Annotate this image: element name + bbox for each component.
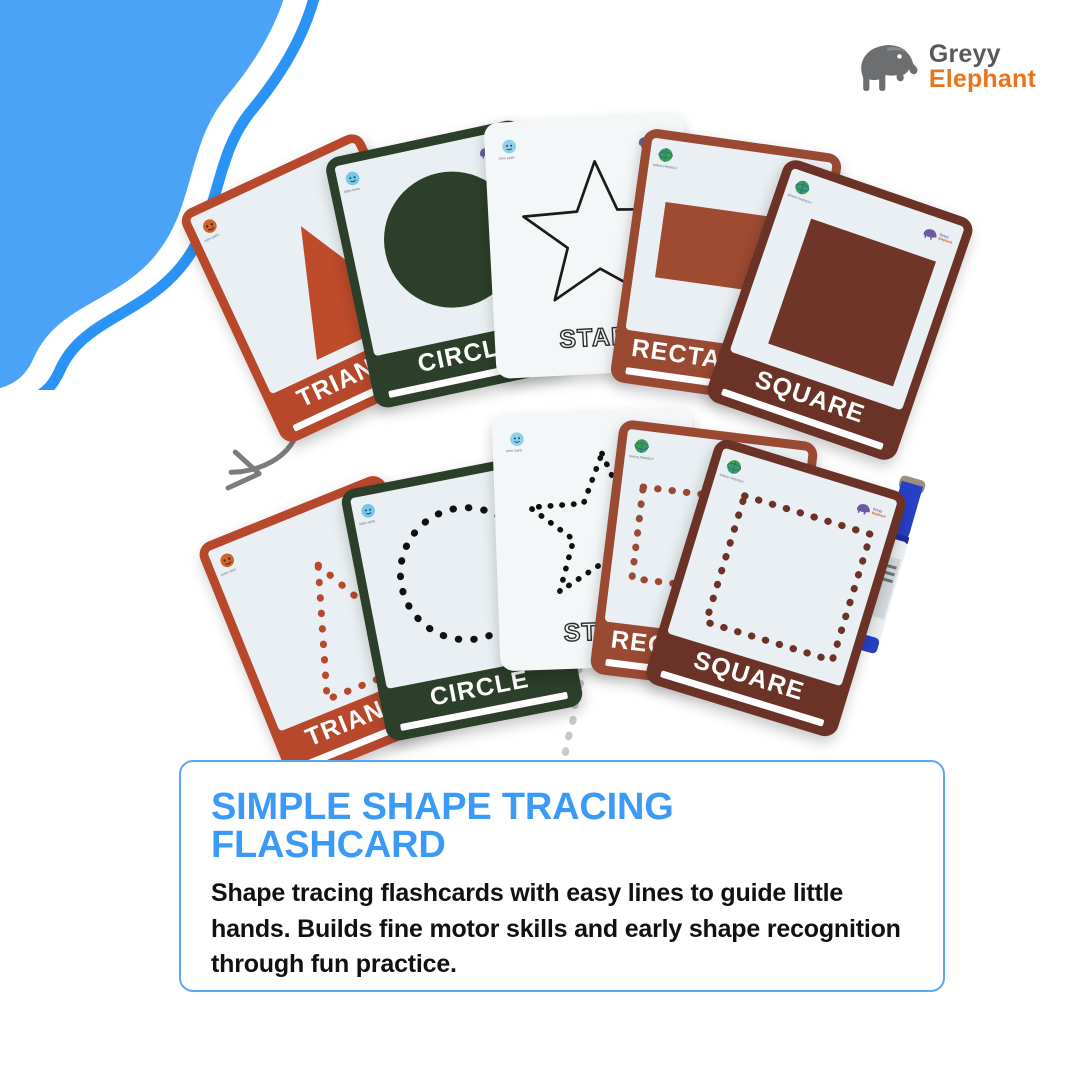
brand-logo: Greyy Elephant	[857, 38, 1036, 96]
badge-cloud: 100% SAFE	[500, 137, 523, 160]
elephant-icon	[857, 38, 919, 96]
cloud-icon	[500, 138, 518, 156]
badge-brand-text: GreyyElephant	[938, 234, 954, 245]
cloud-icon	[508, 430, 526, 448]
logo-text-elephant: Elephant	[929, 67, 1036, 93]
badge-cloud: 100% SAFE	[358, 500, 384, 526]
badge-globe: SPACE FRIENDLY	[632, 437, 657, 462]
page-title: SIMPLE SHAPE TRACING FLASHCARD	[211, 788, 913, 864]
badge-brand-text: GreyyElephant	[871, 508, 887, 519]
elephant-icon	[854, 501, 872, 517]
badge-cloud: 100% SAFE	[508, 430, 531, 453]
badge-caption: 100% SAFE	[506, 449, 522, 454]
cloud-icon	[343, 168, 363, 188]
poster-canvas: Greyy Elephant 100%	[0, 0, 1080, 1080]
badge-globe: SPACE FRIENDLY	[655, 145, 680, 170]
panel-description: Shape tracing flashcards with easy lines…	[211, 876, 913, 983]
logo-text-greyy: Greyy	[929, 42, 1036, 68]
elephant-icon	[921, 226, 939, 242]
badge-cloud: 100% SAFE	[343, 167, 369, 193]
badge-caption: 100% SAFE	[498, 156, 515, 161]
globe-icon	[656, 145, 675, 164]
globe-icon	[632, 437, 651, 456]
cloud-icon	[358, 501, 378, 521]
product-description-panel: SIMPLE SHAPE TRACING FLASHCARD Shape tra…	[179, 760, 945, 992]
